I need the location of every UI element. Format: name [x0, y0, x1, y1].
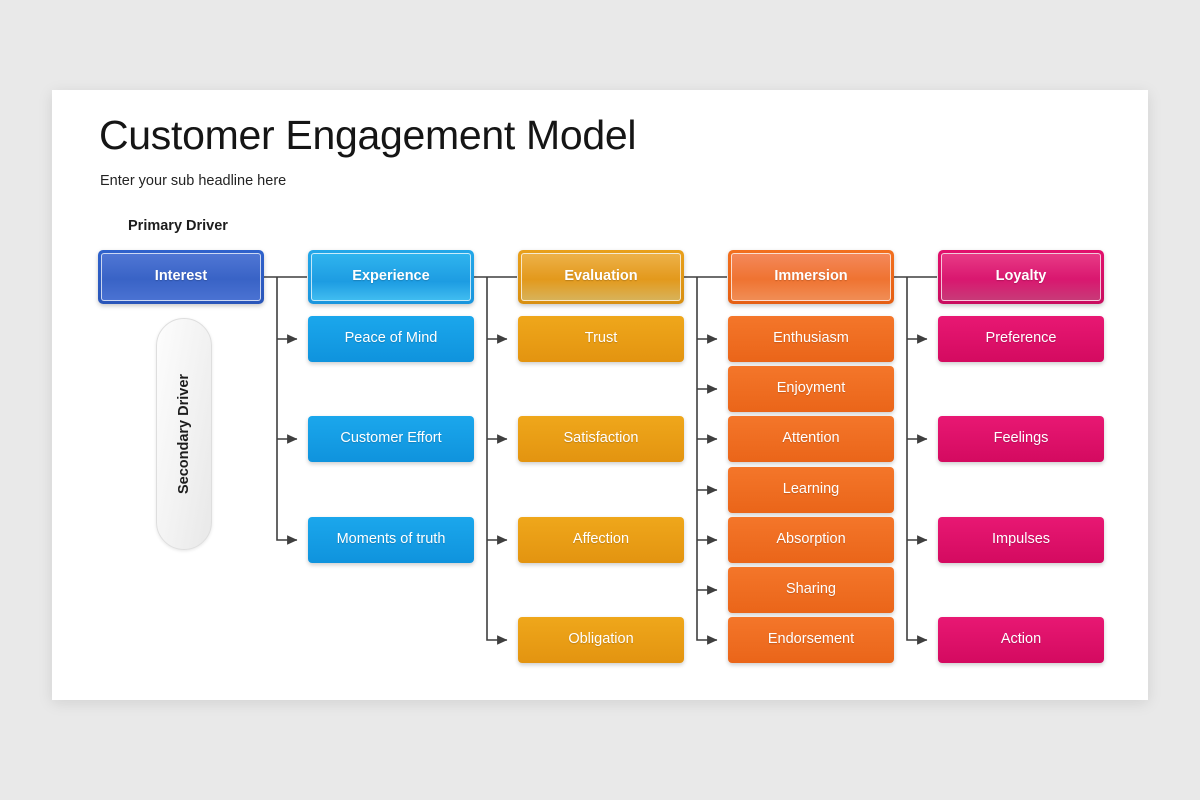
node-evaluation-header[interactable]: Evaluation — [518, 250, 684, 304]
connector-lines — [52, 90, 1148, 700]
engagement-model-diagram: Secondary Driver Interest Experience Pea… — [52, 90, 1148, 700]
node-learning[interactable]: Learning — [728, 467, 894, 513]
node-enthusiasm[interactable]: Enthusiasm — [728, 316, 894, 362]
node-label: Impulses — [986, 532, 1056, 548]
node-label: Feelings — [988, 431, 1055, 447]
node-attention[interactable]: Attention — [728, 416, 894, 462]
node-customer-effort[interactable]: Customer Effort — [308, 416, 474, 462]
node-label: Sharing — [780, 582, 842, 598]
node-label: Loyalty — [990, 269, 1053, 285]
node-impulses[interactable]: Impulses — [938, 517, 1104, 563]
node-label: Learning — [777, 482, 845, 498]
node-obligation[interactable]: Obligation — [518, 617, 684, 663]
node-label: Evaluation — [558, 269, 643, 285]
node-sharing[interactable]: Sharing — [728, 567, 894, 613]
node-moments-of-truth[interactable]: Moments of truth — [308, 517, 474, 563]
node-interest-header[interactable]: Interest — [98, 250, 264, 304]
node-label: Satisfaction — [558, 431, 645, 447]
node-label: Absorption — [770, 532, 851, 548]
node-peace-of-mind[interactable]: Peace of Mind — [308, 316, 474, 362]
node-label: Immersion — [768, 269, 853, 285]
node-label: Enjoyment — [771, 381, 852, 397]
node-label: Experience — [346, 269, 435, 285]
node-label: Trust — [579, 331, 624, 347]
secondary-driver-pill: Secondary Driver — [156, 318, 212, 550]
node-label: Enthusiasm — [767, 331, 855, 347]
node-affection[interactable]: Affection — [518, 517, 684, 563]
node-label: Peace of Mind — [339, 331, 444, 347]
node-label: Action — [995, 632, 1047, 648]
node-endorsement[interactable]: Endorsement — [728, 617, 894, 663]
node-label: Endorsement — [762, 632, 860, 648]
node-experience-header[interactable]: Experience — [308, 250, 474, 304]
node-action[interactable]: Action — [938, 617, 1104, 663]
node-label: Obligation — [562, 632, 639, 648]
node-label: Attention — [776, 431, 845, 447]
node-preference[interactable]: Preference — [938, 316, 1104, 362]
node-immersion-header[interactable]: Immersion — [728, 250, 894, 304]
node-label: Customer Effort — [334, 431, 447, 447]
node-enjoyment[interactable]: Enjoyment — [728, 366, 894, 412]
node-trust[interactable]: Trust — [518, 316, 684, 362]
node-feelings[interactable]: Feelings — [938, 416, 1104, 462]
secondary-driver-label: Secondary Driver — [176, 374, 192, 494]
node-satisfaction[interactable]: Satisfaction — [518, 416, 684, 462]
node-absorption[interactable]: Absorption — [728, 517, 894, 563]
node-label: Affection — [567, 532, 635, 548]
node-label: Preference — [980, 331, 1063, 347]
node-label: Moments of truth — [331, 532, 452, 548]
node-label: Interest — [149, 269, 213, 285]
node-loyalty-header[interactable]: Loyalty — [938, 250, 1104, 304]
slide-card: Customer Engagement Model Enter your sub… — [52, 90, 1148, 700]
